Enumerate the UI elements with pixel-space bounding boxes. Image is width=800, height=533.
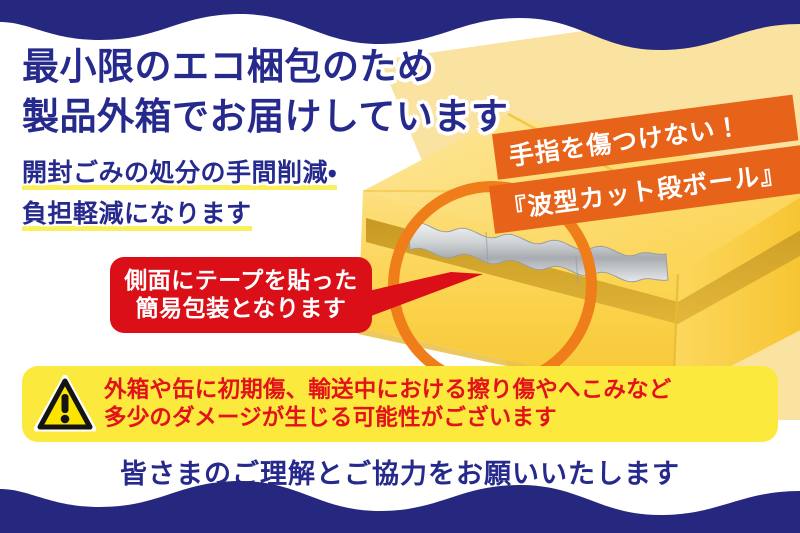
warning-line-1: 外箱や缶に初期傷、輸送中における擦り傷やへこみなど [104, 376, 672, 404]
eco-packaging-notice-banner: 最小限のエコ梱包のため 製品外箱でお届けしています 開封ごみの処分の手間削減・ … [0, 0, 800, 533]
red-callout-box: 側面にテープを貼った 簡易包装となります [110, 257, 372, 333]
subcopy: 開封ごみの処分の手間削減・ 負担軽減になります [22, 160, 337, 242]
warning-line-2: 多少のダメージが生じる可能性がございます [104, 404, 672, 432]
pointer-arrow [355, 268, 495, 328]
warning-triangle-icon [34, 375, 96, 433]
headline-line-1: 最小限のエコ梱包のため [22, 42, 508, 92]
red-callout-line-1: 側面にテープを貼った [124, 267, 358, 295]
headline-line-2: 製品外箱でお届けしています [22, 92, 508, 142]
page-title: 最小限のエコ梱包のため 製品外箱でお届けしています [22, 42, 508, 143]
red-callout-line-2: 簡易包装となります [136, 295, 347, 323]
warning-text: 外箱や缶に初期傷、輸送中における擦り傷やへこみなど 多少のダメージが生じる可能性… [104, 376, 672, 433]
warning-box: 外箱や缶に初期傷、輸送中における擦り傷やへこみなど 多少のダメージが生じる可能性… [22, 366, 778, 442]
subcopy-line-1: 開封ごみの処分の手間削減・ [22, 160, 337, 190]
closing-message-label: 皆さまのご理解とご協力をお願いいたします [120, 459, 680, 490]
closing-message: 皆さまのご理解とご協力をお願いいたします [0, 452, 800, 491]
subcopy-line-2: 負担軽減になります [22, 201, 252, 231]
